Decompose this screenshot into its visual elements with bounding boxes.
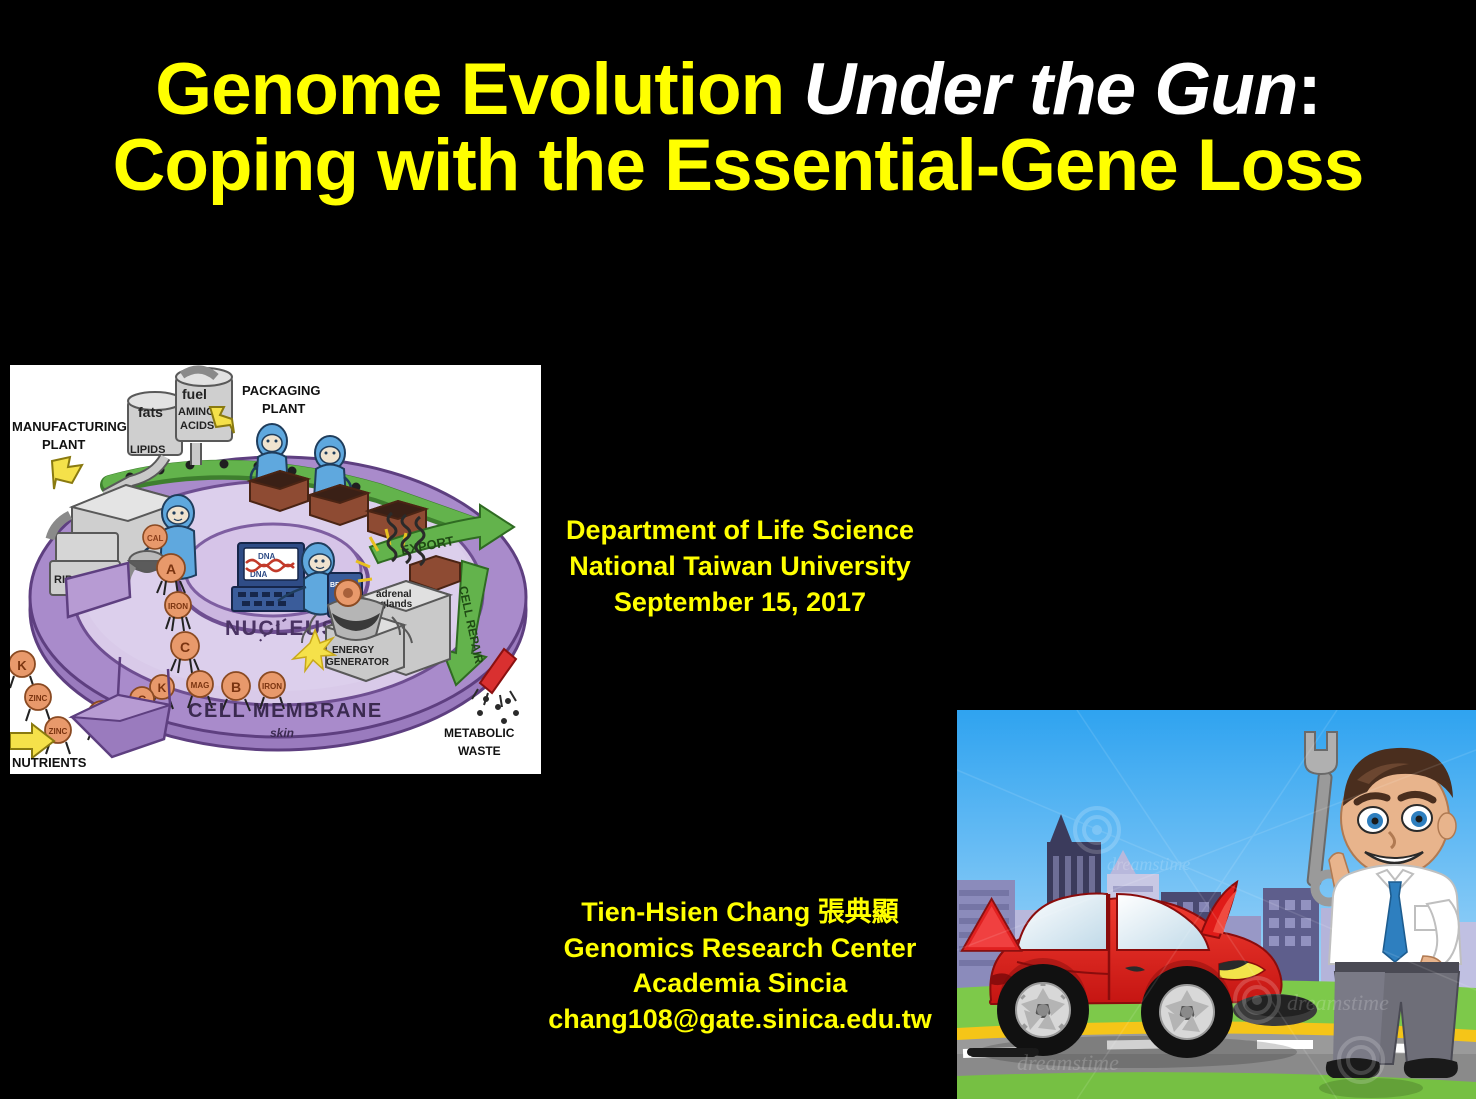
title-part-under-the-gun: Under the Gun <box>803 49 1297 130</box>
svg-text:ZINC: ZINC <box>29 694 48 703</box>
cell-label-metabolic-2: WASTE <box>458 744 501 758</box>
author-email: chang108@gate.sinica.edu.tw <box>480 1002 1000 1038</box>
svg-text:IRON: IRON <box>168 602 188 611</box>
cell-label-nutrients: NUTRIENTS <box>12 755 87 770</box>
cell-label-lipids: LIPIDS <box>130 444 165 456</box>
title-line-1: Genome Evolution Under the Gun: <box>0 52 1476 128</box>
venue-block: Department of Life Science National Taiw… <box>500 512 980 621</box>
svg-text:IRON: IRON <box>262 682 282 691</box>
cell-label-energy-1: ENERGY <box>332 645 375 656</box>
car-wheel-rear <box>997 964 1089 1056</box>
svg-text:A: A <box>166 561 176 577</box>
cell-label-nucleus: NUCLEUS <box>225 617 337 640</box>
cell-label-acids: ACIDS <box>180 420 214 432</box>
venue-university: National Taiwan University <box>500 548 980 584</box>
venue-date: September 15, 2017 <box>500 584 980 620</box>
cell-factory-figure: DNA DNA BRAIN NUCLEUS <box>10 365 541 774</box>
svg-text:MAG: MAG <box>191 681 210 690</box>
svg-text:ZINC: ZINC <box>49 727 68 736</box>
cell-label-cal: CAL <box>147 534 164 543</box>
cell-label-fats: fats <box>138 404 163 420</box>
car-mechanic-figure: dreamstime dreamstime dreamstime <box>957 710 1476 1099</box>
slide-title: Genome Evolution Under the Gun: Coping w… <box>0 52 1476 204</box>
title-part-colon: : <box>1297 49 1320 130</box>
title-line-2: Coping with the Essential-Gene Loss <box>0 128 1476 204</box>
presentation-slide: Genome Evolution Under the Gun: Coping w… <box>0 0 1476 1099</box>
cell-label-packaging-1: PACKAGING <box>242 383 320 398</box>
svg-text:dreamstime: dreamstime <box>1287 990 1389 1015</box>
author-center: Genomics Research Center <box>480 931 1000 967</box>
cell-label-manufacturing-1: MANUFACTURING <box>12 419 127 434</box>
svg-text:B: B <box>231 679 241 695</box>
svg-text:C: C <box>180 639 190 655</box>
venue-department: Department of Life Science <box>500 512 980 548</box>
svg-text:K: K <box>17 658 27 673</box>
cell-label-manufacturing-2: PLANT <box>42 437 85 452</box>
svg-text:K: K <box>158 681 167 695</box>
cell-label-energy-2: GENERATOR <box>326 657 390 668</box>
author-name: Tien-Hsien Chang 張典顯 <box>480 895 1000 931</box>
cell-label-packaging-2: PLANT <box>262 401 305 416</box>
author-institute: Academia Sincia <box>480 966 1000 1002</box>
cell-label-fuel: fuel <box>182 386 207 402</box>
author-block: Tien-Hsien Chang 張典顯 Genomics Research C… <box>480 895 1000 1038</box>
cell-label-skin: skin <box>270 726 294 740</box>
cell-label-cell-membrane: CELL MEMBRANE <box>188 700 383 722</box>
car-wheel-front <box>1141 966 1233 1058</box>
cell-label-metabolic-1: METABOLIC <box>444 726 515 740</box>
title-part-genome-evolution: Genome Evolution <box>155 49 803 130</box>
svg-text:dreamstime: dreamstime <box>1017 1050 1119 1075</box>
